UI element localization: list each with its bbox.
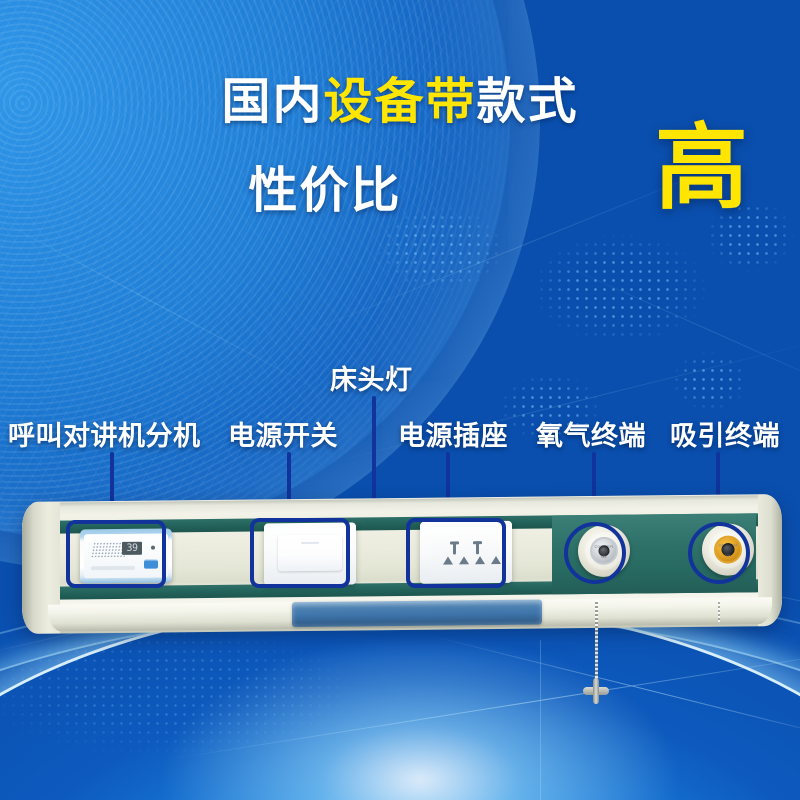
light-streak <box>427 634 800 746</box>
socket-lower-pins <box>439 556 493 565</box>
socket-pin-icon <box>459 556 469 564</box>
bed-lamp-diffuser[interactable] <box>292 600 542 628</box>
headline-part-2-highlight: 设备带 <box>323 73 476 130</box>
socket-slot-left <box>450 541 459 554</box>
headline-part-3: 款式 <box>477 73 579 130</box>
headline-emphasis-gao: 高 <box>655 122 748 215</box>
secondary-cord <box>718 600 720 622</box>
bed-head-unit-panel: 39 <box>22 498 782 630</box>
power-switch[interactable] <box>264 522 356 585</box>
pull-cord[interactable] <box>595 600 598 682</box>
callout-label-bed-lamp: 床头灯 <box>330 358 413 397</box>
light-streak <box>165 641 800 761</box>
socket-faceplate <box>432 534 500 571</box>
oxygen-bottom-text: O2 <box>592 554 616 559</box>
rocker-switch-key[interactable] <box>278 535 342 572</box>
light-streak <box>536 253 800 408</box>
light-streak <box>0 201 336 399</box>
status-led-icon <box>151 546 155 550</box>
intercom-display: 39 <box>122 542 142 555</box>
callout-label-power-switch: 电源开关 <box>228 414 338 453</box>
intercom-faceplate: 39 <box>84 533 168 578</box>
oxygen-terminal[interactable]: OXYGEN O2 <box>578 525 630 578</box>
switch-notch-icon <box>301 542 319 544</box>
oxygen-core[interactable]: OXYGEN O2 <box>590 537 618 565</box>
vertical-light-line <box>540 640 541 800</box>
callout-label-oxygen-terminal: 氧气终端 <box>536 414 646 453</box>
suction-terminal[interactable]: VACUUM VA <box>702 523 754 576</box>
headline-part-1: 国内 <box>221 73 323 130</box>
suction-core[interactable]: VACUUM VA <box>714 535 742 563</box>
panel-surface: 39 <box>22 494 782 634</box>
callout-label-intercom: 呼叫对讲机分机 <box>8 414 201 453</box>
callout-label-power-socket: 电源插座 <box>398 414 508 453</box>
cord-handle-shaft <box>593 678 599 704</box>
promo-banner: 国内设备带款式 性价比 高 呼叫对讲机分机 电源开关 床头灯 电源插座 氧气终端… <box>0 0 800 800</box>
power-socket[interactable] <box>420 521 512 584</box>
intercom-trim-bar <box>91 566 135 570</box>
socket-slot-right <box>473 541 482 554</box>
callout-label-suction-terminal: 吸引终端 <box>670 414 780 453</box>
socket-pin-icon <box>491 556 501 564</box>
intercom-call-button[interactable] <box>144 560 158 569</box>
nurse-call-intercom[interactable]: 39 <box>80 528 172 583</box>
socket-pin-icon <box>443 556 453 564</box>
suction-bottom-text: VA <box>716 552 740 557</box>
socket-pin-icon <box>475 556 485 564</box>
pull-cord-handle[interactable] <box>583 678 609 704</box>
